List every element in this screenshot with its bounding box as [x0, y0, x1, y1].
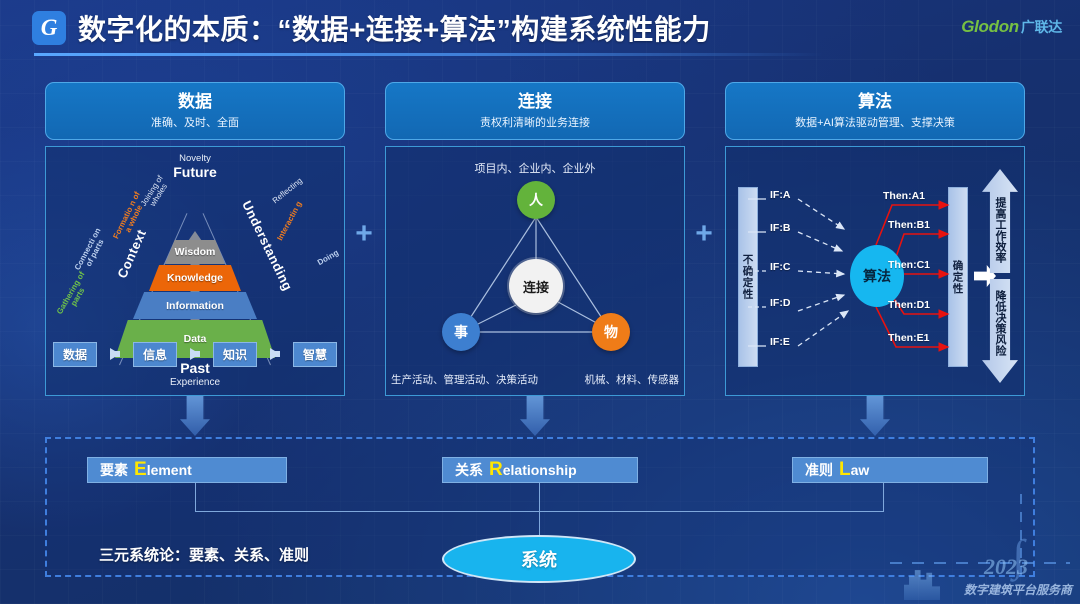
watermark-tagline: 数字建筑平台服务商 [964, 581, 1072, 598]
algorithm-core-node: 算法 [850, 245, 904, 307]
network-node-events: 事 [442, 313, 480, 351]
three-element-theory-label: 三元系统论：要素、关系、准则 [99, 544, 309, 565]
chain-item-knowledge: 知识 [213, 342, 257, 367]
element-label-cn-1: 要素 [100, 460, 128, 480]
pyramid-tier-knowledge: Knowledge [149, 265, 241, 291]
page-title: 数字化的本质：“数据+连接+算法”构建系统性能力 [78, 8, 711, 48]
pyramid-annotation-interacting: Interactin g [275, 198, 305, 244]
panel-algorithm-header: 算法 数据+AI算法驱动管理、支撑决策 [725, 82, 1025, 140]
connector-right-vertical [883, 483, 884, 511]
connector-left-vertical [195, 483, 196, 511]
element-label-cn-3: 准则 [805, 460, 833, 480]
algorithm-if-d: IF:D [770, 297, 790, 309]
algorithm-then-c1: Then:C1 [888, 259, 930, 271]
algorithm-if-b: IF:B [770, 222, 790, 234]
three-element-system-section: 要素 E lement 关系 R elationship 准则 L aw 三元系… [45, 437, 1035, 577]
panel-data-subtitle: 准确、及时、全面 [151, 114, 239, 130]
chain-arrow-icon-1 [110, 348, 120, 360]
panel-algorithm-subtitle: 数据+AI算法驱动管理、支撑决策 [795, 114, 955, 130]
down-arrow-icon-1 [180, 396, 210, 436]
element-box-relationship: 关系 R elationship [442, 457, 638, 483]
network-node-people: 人 [517, 181, 555, 219]
brand-name-en: Glodon [961, 17, 1019, 36]
connector-middle-vertical [539, 483, 540, 543]
algorithm-if-a: IF:A [770, 189, 790, 201]
panel-connection-header: 连接 责权利清晰的业务连接 [385, 82, 685, 140]
pyramid-top-small-label: Novelty [179, 153, 211, 164]
algorithm-outcome-arrows: 提高工作效率 降低决策风险 [982, 169, 1018, 383]
outcome-risk-label: 降低决策风险 [992, 290, 1008, 356]
element-label-rest-1: lement [147, 462, 192, 478]
data-value-chain: 数据 信息 知识 智慧 [45, 341, 345, 367]
panel-algorithm-title: 算法 [858, 92, 892, 112]
outcome-up-arrow-icon: 提高工作效率 [982, 169, 1018, 273]
network-bottom-left-label: 生产活动、管理活动、决策活动 [391, 372, 538, 387]
pyramid-bottom-small-label: Experience [170, 377, 220, 388]
pyramid-annotation-doing: Doing [317, 249, 341, 268]
plus-icon-1: + [351, 222, 377, 248]
panel-algorithm: 算法 数据+AI算法驱动管理、支撑决策 不确定性 确定性 [725, 82, 1025, 396]
plus-icon-2: + [691, 222, 717, 248]
down-arrow-icon-2 [520, 396, 550, 436]
algorithm-then-d1: Then:D1 [888, 299, 930, 311]
glodon-g-icon: G [32, 11, 66, 45]
outcome-efficiency-label: 提高工作效率 [992, 197, 1008, 263]
brand-logo: Glodon广联达 [961, 17, 1062, 37]
panel-data-header: 数据 准确、及时、全面 [45, 82, 345, 140]
chain-item-wisdom: 智慧 [293, 342, 337, 367]
network-node-things: 物 [592, 313, 630, 351]
pyramid-tier-information: Information [133, 292, 257, 319]
element-label-cn-2: 关系 [455, 460, 483, 480]
header-underline [34, 53, 824, 56]
panel-connection-subtitle: 责权利清晰的业务连接 [480, 114, 590, 130]
chain-arrow-icon-3 [270, 348, 280, 360]
element-box-element: 要素 E lement [87, 457, 287, 483]
element-box-law: 准则 L aw [792, 457, 988, 483]
down-arrow-icon-3 [860, 396, 890, 436]
algorithm-if-c: IF:C [770, 261, 790, 273]
algorithm-then-b1: Then:B1 [888, 219, 930, 231]
panel-data-title: 数据 [178, 92, 212, 112]
panel-connection-body: 项目内、企业内、企业外 人 事 物 连接 生产活动、管理活动、决策活动 机械、材… [385, 146, 685, 396]
chain-item-information: 信息 [133, 342, 177, 367]
page-header: G 数字化的本质：“数据+连接+算法”构建系统性能力 Glodon广联达 [0, 0, 1080, 62]
pyramid-annotation-gathering-of-parts: Gathering of parts [55, 270, 95, 322]
network-bottom-right-label: 机械、材料、传感器 [585, 372, 680, 387]
algorithm-then-e1: Then:E1 [888, 332, 929, 344]
network-node-connection: 连接 [509, 259, 563, 313]
outcome-down-arrow-icon: 降低决策风险 [982, 279, 1018, 383]
element-label-cap-2: R [489, 459, 503, 481]
chain-item-data: 数据 [53, 342, 97, 367]
pyramid-top-big-label: Future [173, 164, 217, 180]
element-label-cap-1: E [134, 459, 147, 481]
panel-connection: 连接 责权利清晰的业务连接 项目内、企业内、企业外 人 事 物 连接 生产活动、… [385, 82, 685, 396]
pyramid-tier-wisdom: Wisdom [165, 240, 225, 264]
panel-algorithm-body: 不确定性 确定性 [725, 146, 1025, 396]
system-node: 系统 [442, 535, 636, 583]
element-label-cap-3: L [839, 459, 851, 481]
algorithm-then-a1: Then:A1 [883, 190, 925, 202]
element-label-rest-2: elationship [503, 462, 577, 478]
algorithm-diagram: 不确定性 确定性 [726, 147, 1024, 395]
panel-connection-title: 连接 [518, 92, 552, 112]
brand-name-cn: 广联达 [1021, 19, 1062, 35]
element-label-rest-3: aw [851, 462, 870, 478]
chain-arrow-icon-2 [190, 348, 200, 360]
algorithm-if-e: IF:E [770, 336, 790, 348]
pyramid-annotation-understanding: Understanding [239, 199, 294, 293]
connection-network-diagram: 项目内、企业内、企业外 人 事 物 连接 生产活动、管理活动、决策活动 机械、材… [386, 147, 684, 395]
